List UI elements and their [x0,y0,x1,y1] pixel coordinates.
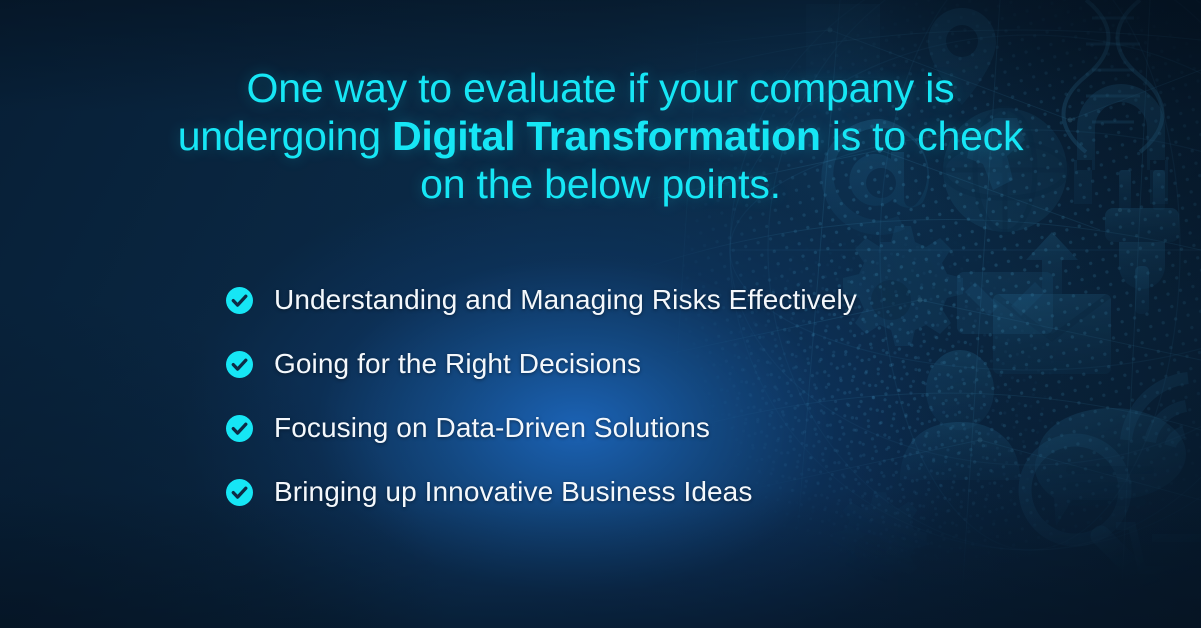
list-item-label: Bringing up Innovative Business Ideas [274,476,752,508]
headline-line-2: undergoing Digital Transformation is to … [0,112,1201,160]
list-item: Focusing on Data-Driven Solutions [226,396,857,460]
headline-line-1: One way to evaluate if your company is [0,64,1201,112]
list-item: Going for the Right Decisions [226,332,857,396]
list-item-label: Focusing on Data-Driven Solutions [274,412,710,444]
headline-line-2-prefix: undergoing [178,113,392,159]
list-item: Understanding and Managing Risks Effecti… [226,268,857,332]
check-circle-icon [226,287,253,314]
slide-canvas: One way to evaluate if your company is u… [0,0,1201,628]
list-item: Bringing up Innovative Business Ideas [226,460,857,524]
headline-line-3: on the below points. [0,160,1201,208]
headline: One way to evaluate if your company is u… [0,64,1201,208]
slide-content: One way to evaluate if your company is u… [0,0,1201,628]
check-circle-icon [226,415,253,442]
headline-line-2-suffix: is to check [821,113,1024,159]
headline-emphasis-digital-transformation: Digital Transformation [392,113,821,159]
list-item-label: Understanding and Managing Risks Effecti… [274,284,857,316]
list-item-label: Going for the Right Decisions [274,348,641,380]
bullet-list: Understanding and Managing Risks Effecti… [226,268,857,524]
check-circle-icon [226,479,253,506]
check-circle-icon [226,351,253,378]
